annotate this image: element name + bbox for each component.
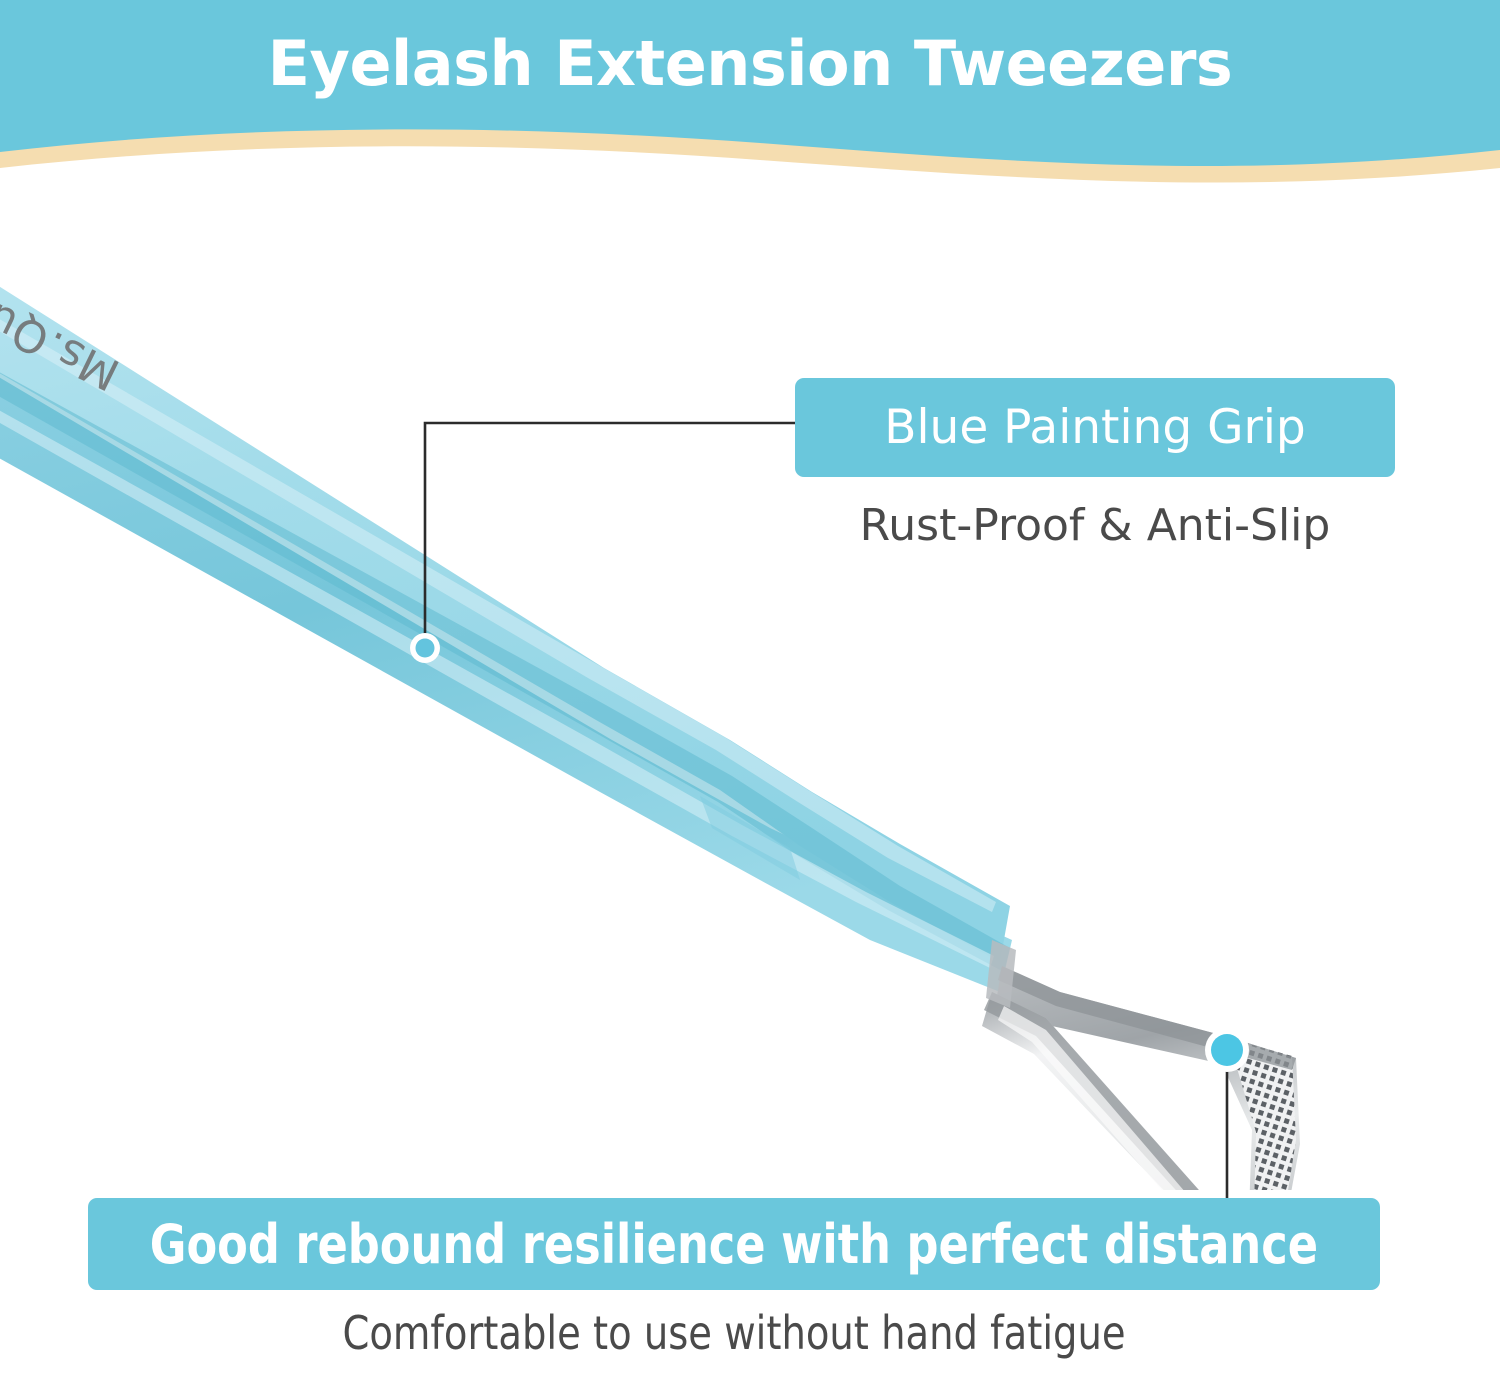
infographic-page: Eyelash Extension Tweezers [0, 0, 1500, 1379]
page-title: Eyelash Extension Tweezers [0, 33, 1500, 95]
callout-rebound-subtext: Comfortable to use without hand fatigue [88, 1306, 1380, 1360]
callout-box-grip: Blue Painting Grip [795, 378, 1395, 477]
callout-rebound-label: Good rebound resilience with perfect dis… [150, 1213, 1318, 1276]
callout-grip-subtext: Rust-Proof & Anti-Slip [795, 500, 1395, 551]
callout-grip-label: Blue Painting Grip [884, 400, 1306, 455]
tweezers-illustration [0, 180, 1500, 1190]
callout-rebound-subtext-text: Comfortable to use without hand fatigue [342, 1306, 1125, 1360]
product-photo: Ms.Queen [0, 180, 1500, 1190]
callout-box-rebound: Good rebound resilience with perfect dis… [88, 1198, 1380, 1290]
